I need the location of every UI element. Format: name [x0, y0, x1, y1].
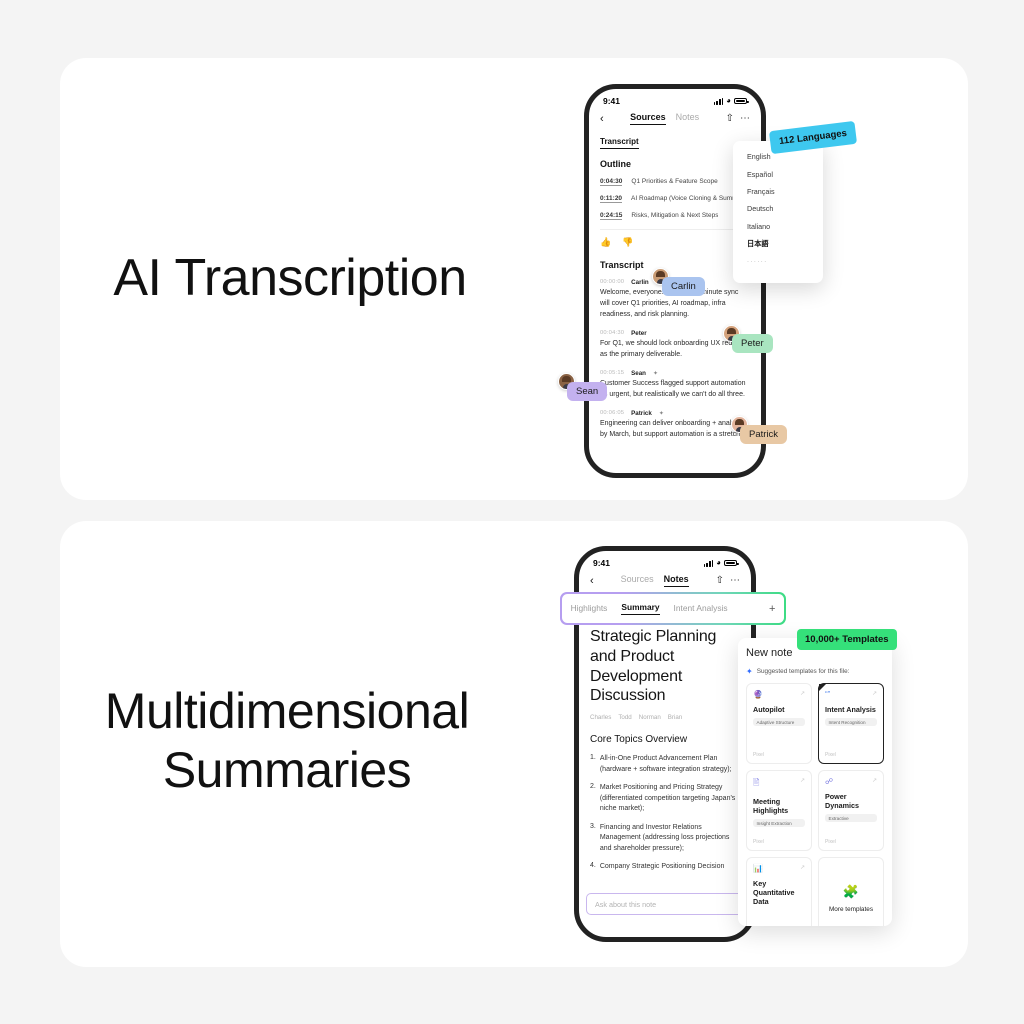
- expand-icon[interactable]: ↗: [872, 777, 877, 784]
- transcript-heading: Transcript: [600, 260, 750, 270]
- template-card-intent-analysis[interactable]: “” ↗ Intent Analysis Intent Recognition …: [818, 683, 884, 764]
- expand-icon[interactable]: ↗: [800, 864, 805, 871]
- outline-timestamp[interactable]: 0:04:30: [600, 178, 622, 186]
- expand-icon[interactable]: ↗: [800, 777, 805, 784]
- status-bar: 9:41 ◕: [579, 551, 751, 570]
- entry-text: Customer Success flagged support automat…: [600, 379, 750, 401]
- list-item: 3. Financing and Investor Relations Mana…: [590, 823, 740, 855]
- template-footer: Pixel: [825, 839, 877, 845]
- language-option-japanese[interactable]: 日本語: [733, 235, 823, 253]
- reaction-row: 👍 👎: [600, 237, 750, 248]
- language-option-french[interactable]: Français: [733, 183, 823, 200]
- sparkle-icon: ✦: [746, 667, 753, 676]
- entry-timestamp[interactable]: 00:06:05: [600, 410, 624, 416]
- list-item: 1. All-in-One Product Advancement Plan (…: [590, 754, 740, 775]
- notes-sheet: Strategic Planning and Product Developme…: [579, 593, 751, 873]
- transcript-entry: 00:05:15 Sean ✦ Customer Success flagged…: [600, 370, 750, 401]
- template-name: Meeting Highlights: [753, 797, 805, 815]
- wifi-icon: ◕: [716, 559, 721, 567]
- template-name: Power Dynamics: [825, 792, 877, 810]
- status-bar: 9:41 ◕: [589, 89, 761, 108]
- language-option-more[interactable]: ......: [733, 253, 823, 268]
- speaker-tag-peter: Peter: [732, 334, 773, 353]
- entry-speaker: Patrick: [631, 410, 652, 417]
- suggested-label-text: Suggested templates for this file:: [757, 668, 850, 675]
- transcript-entry: 00:06:05 Patrick ✦ Engineering can deliv…: [600, 410, 750, 441]
- author-name: Todd: [618, 714, 631, 721]
- list-item-number: 3.: [590, 823, 596, 855]
- network-icon: ☍: [825, 777, 877, 786]
- entry-speaker: Peter: [631, 330, 646, 337]
- entry-text: Engineering can deliver onboarding + ana…: [600, 419, 750, 441]
- status-time: 9:41: [593, 558, 610, 568]
- nav-bar: ‹ Sources Notes ⇧ ⋯: [579, 570, 751, 593]
- entry-timestamp[interactable]: 00:04:30: [600, 330, 624, 336]
- language-dropdown[interactable]: English Español Français Deutsch Italian…: [733, 141, 823, 283]
- speaker-tag-carlin: Carlin: [662, 277, 705, 296]
- list-item-text: Company Strategic Positioning Decision: [600, 862, 725, 873]
- more-horizontal-icon[interactable]: ⋯: [730, 575, 740, 586]
- suggested-templates-label: ✦ Suggested templates for this file:: [746, 667, 884, 676]
- list-item-text: Market Positioning and Pricing Strategy …: [600, 783, 740, 815]
- outline-heading: Outline: [600, 159, 750, 169]
- outline-item[interactable]: 0:04:30 Q1 Priorities & Feature Scope: [600, 178, 750, 186]
- puzzle-icon: 🧩: [843, 884, 859, 900]
- template-name: Intent Analysis: [825, 705, 877, 714]
- thumbs-up-icon[interactable]: 👍: [600, 237, 611, 248]
- tab-sources[interactable]: Sources: [630, 112, 666, 125]
- battery-icon: [724, 560, 737, 567]
- template-chip: Intent Recognition: [825, 718, 877, 726]
- divider: [600, 229, 750, 230]
- page-title-transcription: AI Transcription: [64, 248, 516, 309]
- template-card-more[interactable]: 🧩 More templates: [818, 857, 884, 926]
- template-name: Key Quantitative Data: [753, 879, 805, 906]
- plus-icon[interactable]: +: [769, 603, 775, 615]
- speaker-tag-patrick: Patrick: [740, 425, 787, 444]
- more-templates-label: More templates: [829, 906, 873, 913]
- entry-text: For Q1, we should lock onboarding UX red…: [600, 339, 750, 361]
- author-name: Norman: [639, 714, 661, 721]
- battery-icon: [734, 98, 747, 105]
- wifi-icon: ◕: [726, 97, 731, 105]
- entry-speaker: Sean: [631, 370, 646, 377]
- tab-intent-analysis[interactable]: Intent Analysis: [674, 603, 728, 615]
- speaker-tag-sean: Sean: [567, 382, 607, 401]
- note-title: Strategic Planning and Product Developme…: [590, 627, 740, 706]
- chevron-left-icon[interactable]: ‹: [590, 575, 594, 587]
- list-item: 2. Market Positioning and Pricing Strate…: [590, 783, 740, 815]
- selected-corner-icon: [819, 684, 826, 691]
- list-item-number: 1.: [590, 754, 596, 775]
- note-authors: Charles Todd Norman Brian: [590, 714, 740, 721]
- template-footer: Pixel: [825, 752, 877, 758]
- thumbs-down-icon[interactable]: 👎: [622, 237, 633, 248]
- template-chip: Adaptive Structure: [753, 718, 805, 726]
- language-option-spanish[interactable]: Español: [733, 165, 823, 182]
- expand-icon[interactable]: ↗: [872, 690, 877, 697]
- language-option-german[interactable]: Deutsch: [733, 200, 823, 217]
- status-time: 9:41: [603, 96, 620, 106]
- author-name: Charles: [590, 714, 611, 721]
- notes-icon: 🖹: [753, 777, 805, 791]
- template-name: Autopilot: [753, 705, 805, 714]
- ask-input-placeholder: Ask about this note: [595, 900, 656, 909]
- transcript-subtab[interactable]: Transcript: [600, 137, 639, 149]
- outline-label: Risks, Mitigation & Next Steps: [631, 212, 718, 219]
- quote-icon: “”: [825, 690, 877, 699]
- author-name: Brian: [668, 714, 682, 721]
- cellular-signal-icon: [704, 560, 713, 567]
- template-footer: Pixel: [753, 752, 805, 758]
- tab-sources[interactable]: Sources: [621, 574, 654, 587]
- list-item-text: Financing and Investor Relations Managem…: [600, 823, 740, 855]
- page-title-summaries: Multidimensional Summaries: [54, 682, 520, 800]
- tab-highlights[interactable]: Highlights: [571, 603, 608, 615]
- list-item-text: All-in-One Product Advancement Plan (har…: [600, 754, 740, 775]
- section-heading: Core Topics Overview: [590, 734, 740, 745]
- outline-label: AI Roadmap (Voice Cloning & Summ: [631, 195, 738, 202]
- sparkle-icon: ✦: [659, 410, 664, 417]
- tab-summary[interactable]: Summary: [621, 602, 659, 615]
- template-card-power-dynamics[interactable]: ☍ ↗ Power Dynamics Extractive Pixel: [818, 770, 884, 851]
- tab-notes[interactable]: Notes: [664, 574, 689, 587]
- outline-item[interactable]: 0:24:15 Risks, Mitigation & Next Steps: [600, 212, 750, 220]
- language-option-italian[interactable]: Italiano: [733, 218, 823, 235]
- template-card-meeting-highlights[interactable]: 🖹 ↗ Meeting Highlights Insight Extractio…: [746, 770, 812, 851]
- status-badge-templates: 10,000+ Templates: [797, 629, 897, 650]
- list-item: 4. Company Strategic Positioning Decisio…: [590, 862, 740, 873]
- cellular-signal-icon: [714, 98, 723, 105]
- template-chip: Extractive: [825, 814, 877, 822]
- chevron-left-icon[interactable]: ‹: [600, 113, 604, 125]
- chart-icon: 📊: [753, 864, 805, 873]
- templates-grid: 🔮 ↗ Autopilot Adaptive Structure Pixel “…: [746, 683, 884, 926]
- tab-notes[interactable]: Notes: [676, 112, 700, 125]
- wand-icon: 🔮: [753, 690, 805, 699]
- template-chip: Insight Extraction: [753, 819, 805, 827]
- template-card-key-quantitative-data[interactable]: 📊 ↗ Key Quantitative Data: [746, 857, 812, 926]
- outline-label: Q1 Priorities & Feature Scope: [631, 178, 717, 185]
- entry-timestamp[interactable]: 00:00:00: [600, 279, 624, 285]
- share-icon[interactable]: ⇧: [716, 575, 724, 586]
- template-footer: Pixel: [753, 839, 805, 845]
- more-horizontal-icon[interactable]: ⋯: [740, 113, 750, 124]
- list-item-number: 2.: [590, 783, 596, 815]
- templates-panel: New note ✦ Suggested templates for this …: [738, 638, 892, 926]
- share-icon[interactable]: ⇧: [726, 113, 734, 124]
- nav-bar: ‹ Sources Notes ⇧ ⋯: [589, 108, 761, 131]
- ask-input[interactable]: Ask about this note: [586, 893, 746, 915]
- entry-timestamp[interactable]: 00:05:15: [600, 370, 624, 376]
- list-item-number: 4.: [590, 862, 596, 873]
- template-card-autopilot[interactable]: 🔮 ↗ Autopilot Adaptive Structure Pixel: [746, 683, 812, 764]
- summary-tabbar: Highlights Summary Intent Analysis +: [560, 592, 786, 625]
- page-root: AI Transcription 9:41 ◕ ‹ Sources Notes …: [0, 0, 1024, 1024]
- outline-item[interactable]: 0:11:20 AI Roadmap (Voice Cloning & Summ: [600, 195, 750, 203]
- entry-speaker: Carlin: [631, 279, 649, 286]
- expand-icon[interactable]: ↗: [800, 690, 805, 697]
- outline-timestamp[interactable]: 0:24:15: [600, 212, 622, 220]
- outline-timestamp[interactable]: 0:11:20: [600, 195, 622, 203]
- sparkle-icon: ✦: [653, 370, 658, 377]
